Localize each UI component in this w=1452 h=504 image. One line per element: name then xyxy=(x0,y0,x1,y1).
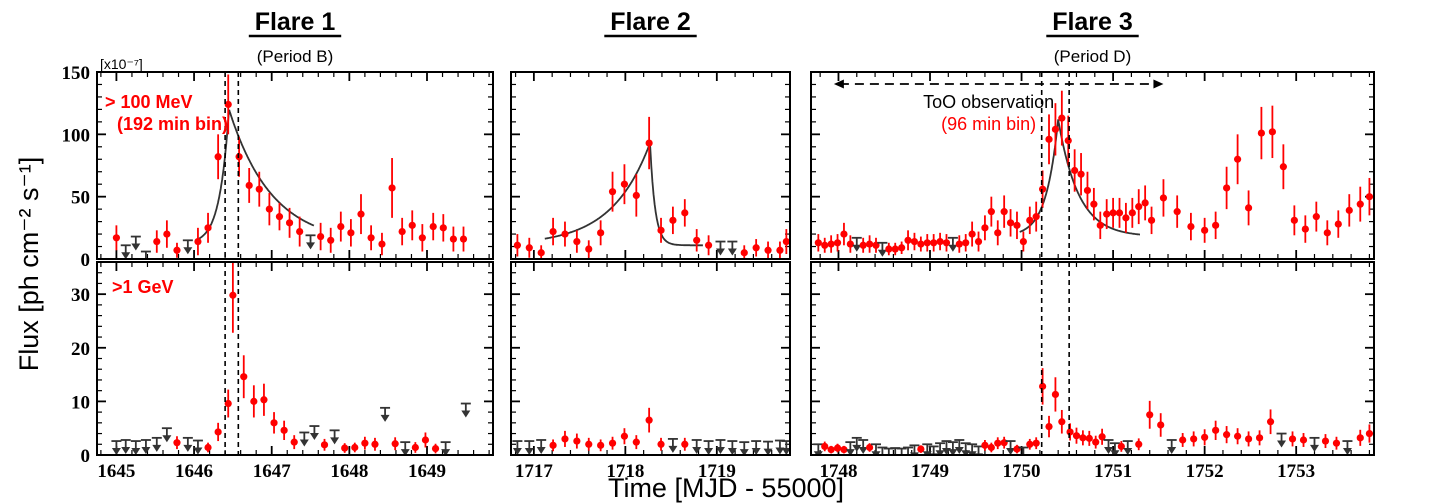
data-point xyxy=(956,240,963,247)
data-point xyxy=(1245,204,1252,211)
data-point xyxy=(1256,434,1263,441)
panel-3-bottom-data xyxy=(813,368,1373,462)
data-point xyxy=(1033,440,1040,447)
upper-limit-arrow xyxy=(948,245,957,252)
data-point xyxy=(1357,434,1364,441)
upper-limit-arrow xyxy=(121,447,130,454)
data-point xyxy=(296,228,303,235)
data-point xyxy=(1066,428,1073,435)
x-tick-label: 1645 xyxy=(97,461,135,482)
data-point xyxy=(609,440,616,447)
data-point xyxy=(250,398,257,405)
data-point xyxy=(1302,225,1309,232)
x-tick-label: 1751 xyxy=(1094,461,1132,482)
x-tick-label: 1647 xyxy=(253,461,292,482)
data-point xyxy=(1135,441,1142,448)
upper-limit-arrow xyxy=(878,250,887,257)
panel-subtitle-1: (Period B) xyxy=(257,47,334,66)
data-point xyxy=(367,234,374,241)
panel-title-3: Flare 3 xyxy=(1046,8,1138,36)
upper-limit-arrow xyxy=(152,445,161,452)
series-sublabel-192min: (192 min bin) xyxy=(117,114,228,134)
data-point xyxy=(573,437,580,444)
data-point xyxy=(1212,222,1219,229)
series-label-100mev: > 100 MeV xyxy=(105,92,193,112)
data-point xyxy=(1058,115,1065,122)
x-tick-label: 1752 xyxy=(1186,461,1224,482)
data-point xyxy=(1280,163,1287,170)
data-point xyxy=(904,237,911,244)
data-point xyxy=(514,242,521,249)
data-point xyxy=(646,417,653,424)
data-point xyxy=(657,227,664,234)
data-point xyxy=(561,230,568,237)
data-point xyxy=(1039,383,1046,390)
data-point xyxy=(981,442,988,449)
data-point xyxy=(1013,222,1020,229)
panel-title-text: Flare 3 xyxy=(1052,8,1133,36)
data-point xyxy=(936,238,943,245)
upper-limit-arrow xyxy=(884,456,893,463)
data-point xyxy=(270,419,277,426)
data-point xyxy=(337,223,344,230)
data-point xyxy=(432,445,439,452)
data-point xyxy=(422,436,429,443)
data-point xyxy=(194,238,201,245)
data-point xyxy=(204,444,211,451)
data-point xyxy=(1135,203,1142,210)
upper-limit-arrow xyxy=(1277,441,1286,448)
data-point xyxy=(260,396,267,403)
data-point xyxy=(776,247,783,254)
data-point xyxy=(1324,229,1331,236)
data-point xyxy=(633,439,640,446)
data-point xyxy=(753,244,760,251)
data-point xyxy=(327,237,334,244)
upper-limit-arrow xyxy=(381,415,390,422)
data-point xyxy=(412,444,419,451)
data-point xyxy=(1357,201,1364,208)
data-point xyxy=(246,182,253,189)
exponent-note: [x10⁻⁷] xyxy=(100,56,143,72)
data-point xyxy=(1179,436,1186,443)
lightcurve-figure: Flare 1(Period B)Flare 2Flare 3(Period D… xyxy=(0,0,1452,504)
panel-3-top-data xyxy=(815,91,1373,257)
panel-subtitle-3: (Period D) xyxy=(1054,47,1131,66)
data-point xyxy=(633,192,640,199)
data-point xyxy=(1026,217,1033,224)
y-tick-label: 100 xyxy=(62,125,91,146)
data-point xyxy=(173,439,180,446)
x-tick-label: 1749 xyxy=(911,461,949,482)
data-point xyxy=(1187,223,1194,230)
too-label: ToO observation xyxy=(923,92,1054,112)
data-point xyxy=(860,242,867,249)
data-point xyxy=(585,441,592,448)
data-point xyxy=(669,217,676,224)
data-point xyxy=(1092,439,1099,446)
y-tick-labels-bottom: 0102030 xyxy=(71,285,90,467)
data-point xyxy=(1097,222,1104,229)
upper-limit-arrow xyxy=(692,447,701,454)
y-tick-label: 20 xyxy=(71,339,90,360)
data-point xyxy=(215,153,222,160)
data-point xyxy=(597,442,604,449)
y-tick-label: 150 xyxy=(62,63,91,84)
data-point xyxy=(764,247,771,254)
data-point xyxy=(1234,156,1241,163)
data-point xyxy=(930,239,937,246)
data-point xyxy=(1020,238,1027,245)
data-point xyxy=(229,292,236,299)
data-point xyxy=(371,441,378,448)
data-point xyxy=(549,442,556,449)
data-point xyxy=(351,444,358,451)
data-point xyxy=(440,224,447,231)
data-point xyxy=(981,224,988,231)
data-point xyxy=(113,234,120,241)
y-tick-label: 30 xyxy=(71,285,90,306)
data-point xyxy=(388,184,395,191)
upper-limit-arrow xyxy=(537,447,546,454)
data-point xyxy=(621,433,628,440)
data-point xyxy=(163,230,170,237)
x-tick-label: 1748 xyxy=(819,461,857,482)
data-point xyxy=(1071,167,1078,174)
too-observation-annotation: ToO observation(96 min bin) xyxy=(834,80,1164,135)
data-point xyxy=(1267,418,1274,425)
data-point xyxy=(1160,194,1167,201)
data-point xyxy=(657,441,664,448)
upper-limit-arrow xyxy=(162,435,171,442)
panel-title-2: Flare 2 xyxy=(604,8,696,36)
data-point xyxy=(821,443,828,450)
data-point xyxy=(994,440,1001,447)
data-point xyxy=(1090,201,1097,208)
data-point xyxy=(969,230,976,237)
data-point xyxy=(1245,435,1252,442)
data-point xyxy=(1346,207,1353,214)
data-point xyxy=(1300,436,1307,443)
data-point xyxy=(988,208,995,215)
data-point xyxy=(1212,427,1219,434)
data-point xyxy=(1174,208,1181,215)
upper-limit-arrow xyxy=(1110,450,1119,457)
data-point xyxy=(609,188,616,195)
data-point xyxy=(240,373,247,380)
data-point xyxy=(1322,437,1329,444)
data-point xyxy=(705,242,712,249)
data-point xyxy=(1269,128,1276,135)
plot-frame xyxy=(811,262,1374,455)
data-point xyxy=(1079,434,1086,441)
data-point xyxy=(1291,217,1298,224)
data-point xyxy=(821,242,828,249)
too-arrow-head-right xyxy=(1153,80,1163,89)
x-tick-label: 1649 xyxy=(408,461,446,482)
data-point xyxy=(1084,187,1091,194)
data-point xyxy=(409,222,416,229)
data-point xyxy=(783,238,790,245)
upper-limit-arrow xyxy=(183,247,192,254)
data-point xyxy=(392,440,399,447)
data-point xyxy=(1052,126,1059,133)
data-point xyxy=(975,238,982,245)
panel-1-x-tick-labels: 16451646164716481649 xyxy=(97,461,446,482)
upper-limit-arrow xyxy=(310,433,319,440)
data-point xyxy=(1073,432,1080,439)
data-point xyxy=(1335,220,1342,227)
data-point xyxy=(1289,435,1296,442)
data-point xyxy=(1013,446,1020,453)
upper-limit-arrow xyxy=(461,411,470,418)
data-point xyxy=(924,239,931,246)
data-point xyxy=(1148,217,1155,224)
upper-limit-arrow xyxy=(141,447,150,454)
y-tick-labels-top: 050100150 xyxy=(62,63,91,271)
data-point xyxy=(1122,214,1129,221)
data-point xyxy=(646,139,653,146)
upper-limit-arrow xyxy=(961,450,970,457)
too-sublabel: (96 min bin) xyxy=(941,114,1036,134)
data-point xyxy=(321,441,328,448)
data-point xyxy=(681,441,688,448)
data-point xyxy=(1045,423,1052,430)
panel-3-bottom-frame xyxy=(811,262,1374,455)
data-point xyxy=(419,234,426,241)
data-point xyxy=(450,235,457,242)
data-point xyxy=(828,446,835,453)
data-point xyxy=(1190,435,1197,442)
series-label-1gev: >1 GeV xyxy=(112,277,174,297)
data-point xyxy=(834,239,841,246)
upper-limit-arrow xyxy=(183,445,192,452)
panel-3-x-tick-labels: 174817491750175117521753 xyxy=(819,461,1315,482)
upper-limit-arrow xyxy=(891,455,900,462)
x-tick-label: 1648 xyxy=(330,461,368,482)
data-point xyxy=(430,223,437,230)
data-point xyxy=(276,213,283,220)
panel-title-text: Flare 2 xyxy=(610,8,691,36)
data-point xyxy=(585,245,592,252)
data-point xyxy=(549,228,556,235)
data-point xyxy=(1001,208,1008,215)
data-point xyxy=(357,211,364,218)
data-point xyxy=(693,237,700,244)
data-point xyxy=(834,444,841,451)
plot-frame xyxy=(811,72,1374,259)
data-point xyxy=(828,240,835,247)
data-point xyxy=(1109,209,1116,216)
plot-frame xyxy=(511,262,790,455)
upper-limit-arrow xyxy=(131,244,140,251)
exponent-note-text: [x10⁻⁷] xyxy=(100,56,143,72)
panel-2-x-tick-labels: 171717181719 xyxy=(515,461,736,482)
data-point xyxy=(317,233,324,240)
data-point xyxy=(1116,209,1123,216)
y-axis-label: Flux [ph cm⁻² s⁻¹] xyxy=(14,157,44,372)
data-point xyxy=(885,245,892,252)
data-point xyxy=(681,209,688,216)
data-point xyxy=(1201,434,1208,441)
data-point xyxy=(291,439,298,446)
x-tick-label: 1718 xyxy=(606,461,644,482)
panel-2-top-data xyxy=(514,117,790,260)
upper-limit-arrow xyxy=(300,439,309,446)
data-point xyxy=(361,440,368,447)
data-point xyxy=(256,186,263,193)
y-tick-label: 10 xyxy=(71,392,90,413)
data-point xyxy=(917,240,924,247)
upper-limit-arrow xyxy=(1310,445,1319,452)
data-point xyxy=(597,229,604,236)
data-point xyxy=(847,240,854,247)
x-tick-label: 1717 xyxy=(515,461,554,482)
data-point xyxy=(840,230,847,237)
x-tick-label: 1646 xyxy=(175,461,213,482)
panel-3-top-frame xyxy=(811,72,1374,259)
data-point xyxy=(1142,199,1149,206)
panel-2-bottom-data xyxy=(512,408,791,456)
y-tick-label: 0 xyxy=(81,250,91,271)
upper-limit-arrow xyxy=(306,242,315,249)
data-point xyxy=(1065,137,1072,144)
figure-root: Flare 1(Period B)Flare 2Flare 3(Period D… xyxy=(0,0,1452,504)
upper-limit-arrow xyxy=(668,446,677,453)
data-point xyxy=(1103,211,1110,218)
data-point xyxy=(1039,186,1046,193)
data-point xyxy=(460,235,467,242)
data-point xyxy=(1007,219,1014,226)
data-point xyxy=(1366,193,1373,200)
data-point xyxy=(153,238,160,245)
upper-limit-arrow xyxy=(330,437,339,444)
panel-2-bottom-frame xyxy=(511,262,790,455)
panel-title-1: Flare 1 xyxy=(249,8,341,36)
data-point xyxy=(1157,421,1164,428)
x-tick-label: 1750 xyxy=(1003,461,1041,482)
data-point xyxy=(898,244,905,251)
data-point xyxy=(1045,136,1052,143)
data-point xyxy=(1366,430,1373,437)
data-point xyxy=(1223,184,1230,191)
data-point xyxy=(1258,129,1265,136)
data-point xyxy=(1129,209,1136,216)
data-point xyxy=(204,224,211,231)
data-point xyxy=(281,427,288,434)
series-label-top-p1: > 100 MeV(192 min bin) xyxy=(105,92,228,134)
data-point xyxy=(988,444,995,451)
data-point xyxy=(621,181,628,188)
data-point xyxy=(911,238,918,245)
y-tick-label: 50 xyxy=(71,188,90,209)
data-point xyxy=(1313,213,1320,220)
data-point xyxy=(1052,391,1059,398)
data-point xyxy=(378,240,385,247)
data-point xyxy=(1234,433,1241,440)
panel-title-text: Flare 1 xyxy=(255,8,336,36)
data-point xyxy=(573,238,580,245)
data-point xyxy=(962,239,969,246)
data-point xyxy=(399,228,406,235)
data-point xyxy=(286,219,293,226)
data-point xyxy=(561,435,568,442)
data-point xyxy=(1058,418,1065,425)
data-point xyxy=(1033,213,1040,220)
y-tick-label: 0 xyxy=(81,446,91,467)
data-point xyxy=(741,249,748,256)
data-point xyxy=(215,428,222,435)
data-point xyxy=(1201,227,1208,234)
data-point xyxy=(1146,411,1153,418)
data-point xyxy=(994,229,1001,236)
data-point xyxy=(1223,431,1230,438)
data-point xyxy=(1077,171,1084,178)
data-point xyxy=(892,245,899,252)
x-tick-label: 1719 xyxy=(698,461,736,482)
data-point xyxy=(538,249,545,256)
data-point xyxy=(1333,440,1340,447)
x-tick-label: 1753 xyxy=(1277,461,1315,482)
data-point xyxy=(815,239,822,246)
data-point xyxy=(526,244,533,251)
data-point xyxy=(266,206,273,213)
data-point xyxy=(1001,439,1008,446)
data-point xyxy=(173,247,180,254)
data-point xyxy=(341,444,348,451)
data-point xyxy=(1026,441,1033,448)
data-point xyxy=(347,229,354,236)
upper-limit-arrow xyxy=(897,456,906,463)
data-point xyxy=(866,240,873,247)
data-point xyxy=(1086,435,1093,442)
